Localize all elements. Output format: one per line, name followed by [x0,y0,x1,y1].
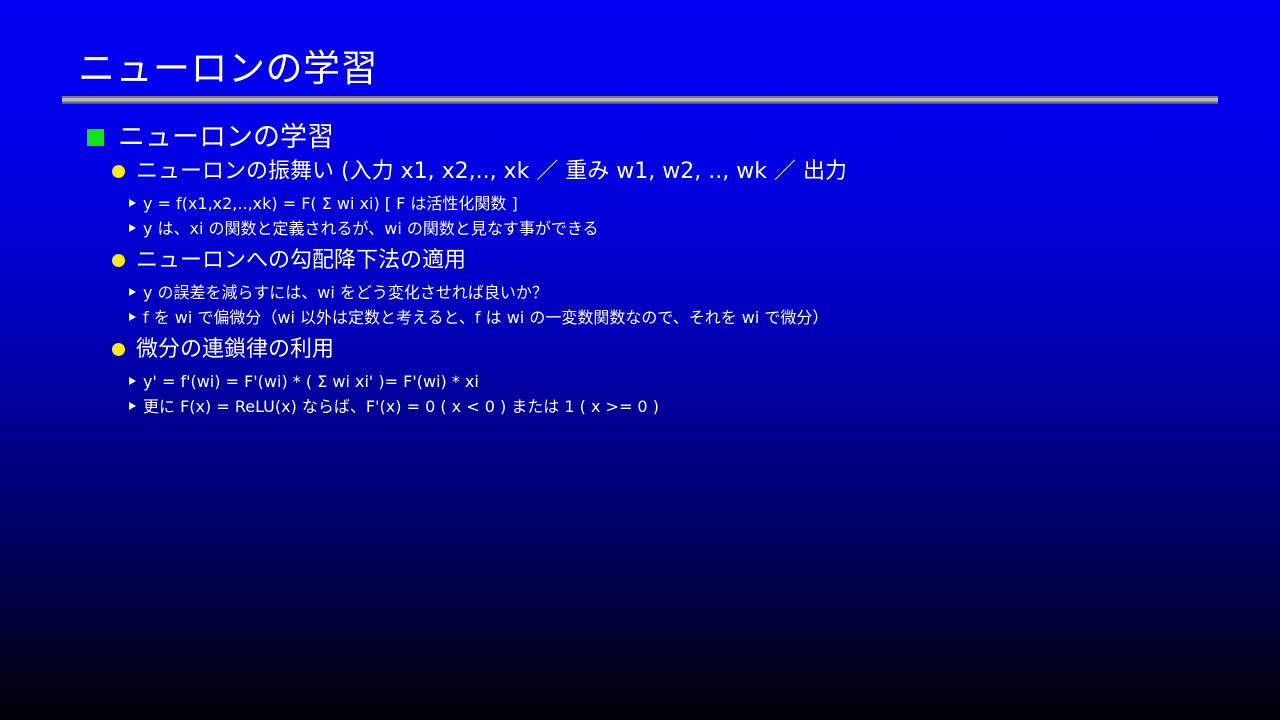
outline-item-level1: ニューロンの学習 [0,120,1280,156]
outline-item-level3: y の誤差を減らすには、wi をどう変化させれば良いか？ [0,280,1280,305]
triangle-bullet-icon [129,224,136,232]
outline-item-text: ニューロンの学習 [118,122,334,153]
outline-item-text: ニューロンへの勾配降下法の適用 [136,248,466,273]
outline-item-level2: ニューロンの振舞い (入力 x1, x2,.., xk ／ 重み w1, w2,… [0,156,1280,187]
outline-item-level3: y は、xi の関数と定義されるが、wi の関数と見なす事ができる [0,216,1280,241]
outline-item-text: y は、xi の関数と定義されるが、wi の関数と見なす事ができる [143,219,599,238]
triangle-bullet-icon [129,402,136,410]
outline-item-level2: ニューロンへの勾配降下法の適用 [0,245,1280,276]
outline-item-text: ニューロンの振舞い (入力 x1, x2,.., xk ／ 重み w1, w2,… [136,159,847,184]
square-bullet-icon [87,129,104,146]
triangle-bullet-icon [129,313,136,321]
outline-item-text: y = f(x1,x2,..,xk) = F( Σ wi xi) [ F は活性… [143,194,518,213]
triangle-bullet-icon [129,288,136,296]
presentation-slide: ニューロンの学習 ニューロンの学習 ニューロンの振舞い (入力 x1, x2,.… [0,0,1280,720]
disc-bullet-icon [112,165,125,178]
title-divider-rule [62,96,1218,104]
outline-item-level2: 微分の連鎖律の利用 [0,334,1280,365]
outline-item-text: y の誤差を減らすには、wi をどう変化させれば良いか？ [143,283,548,302]
triangle-bullet-icon [129,377,136,385]
slide-body: ニューロンの学習 ニューロンの振舞い (入力 x1, x2,.., xk ／ 重… [0,120,1280,419]
disc-bullet-icon [112,343,125,356]
outline-item-level3: 更に F(x) = ReLU(x) ならば、F'(x) = 0 ( x < 0 … [0,394,1280,419]
disc-bullet-icon [112,254,125,267]
outline-item-text: f を wi で偏微分（wi 以外は定数と考えると、f は wi の一変数関数な… [143,308,828,327]
outline-item-text: 微分の連鎖律の利用 [136,337,334,362]
outline-item-level3: y' = f'(wi) = F'(wi) * ( Σ wi xi' )= F'(… [0,369,1280,394]
outline-item-text: y' = f'(wi) = F'(wi) * ( Σ wi xi' )= F'(… [143,372,479,391]
outline-item-text: 更に F(x) = ReLU(x) ならば、F'(x) = 0 ( x < 0 … [143,397,659,416]
slide-title: ニューロンの学習 [78,46,378,92]
outline-item-level3: f を wi で偏微分（wi 以外は定数と考えると、f は wi の一変数関数な… [0,305,1280,330]
outline-item-level3: y = f(x1,x2,..,xk) = F( Σ wi xi) [ F は活性… [0,191,1280,216]
triangle-bullet-icon [129,199,136,207]
